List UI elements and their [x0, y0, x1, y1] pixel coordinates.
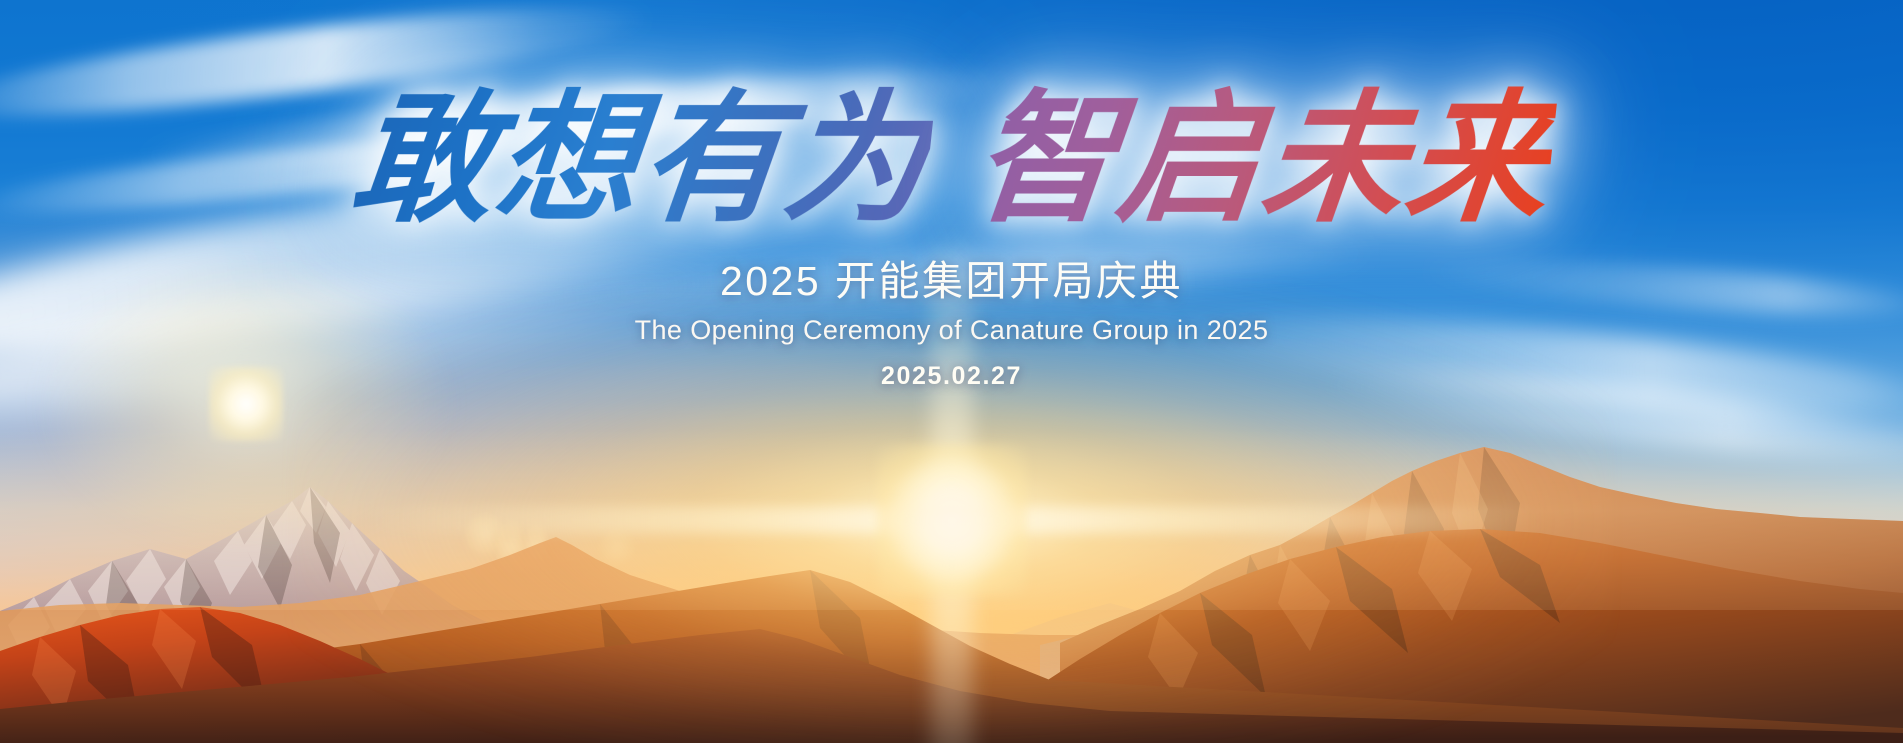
subtitle-chinese: 2025 开能集团开局庆典 [0, 256, 1903, 308]
headline-part-1: 敢想有为 [345, 84, 937, 235]
headline-calligraphy: 敢想有为智启未来 [0, 84, 1903, 235]
event-banner: 敢想有为智启未来 2025 开能集团开局庆典 The Opening Cerem… [0, 0, 1903, 743]
event-date: 2025.02.27 [0, 362, 1903, 391]
headline-glow-wrap: 敢想有为智启未来 [343, 84, 1561, 235]
sun-core [877, 445, 1027, 595]
headline-part-2: 智启未来 [967, 84, 1559, 235]
subtitle-english: The Opening Ceremony of Canature Group i… [0, 315, 1903, 346]
subtitle-block: 2025 开能集团开局庆典 The Opening Ceremony of Ca… [0, 256, 1903, 346]
